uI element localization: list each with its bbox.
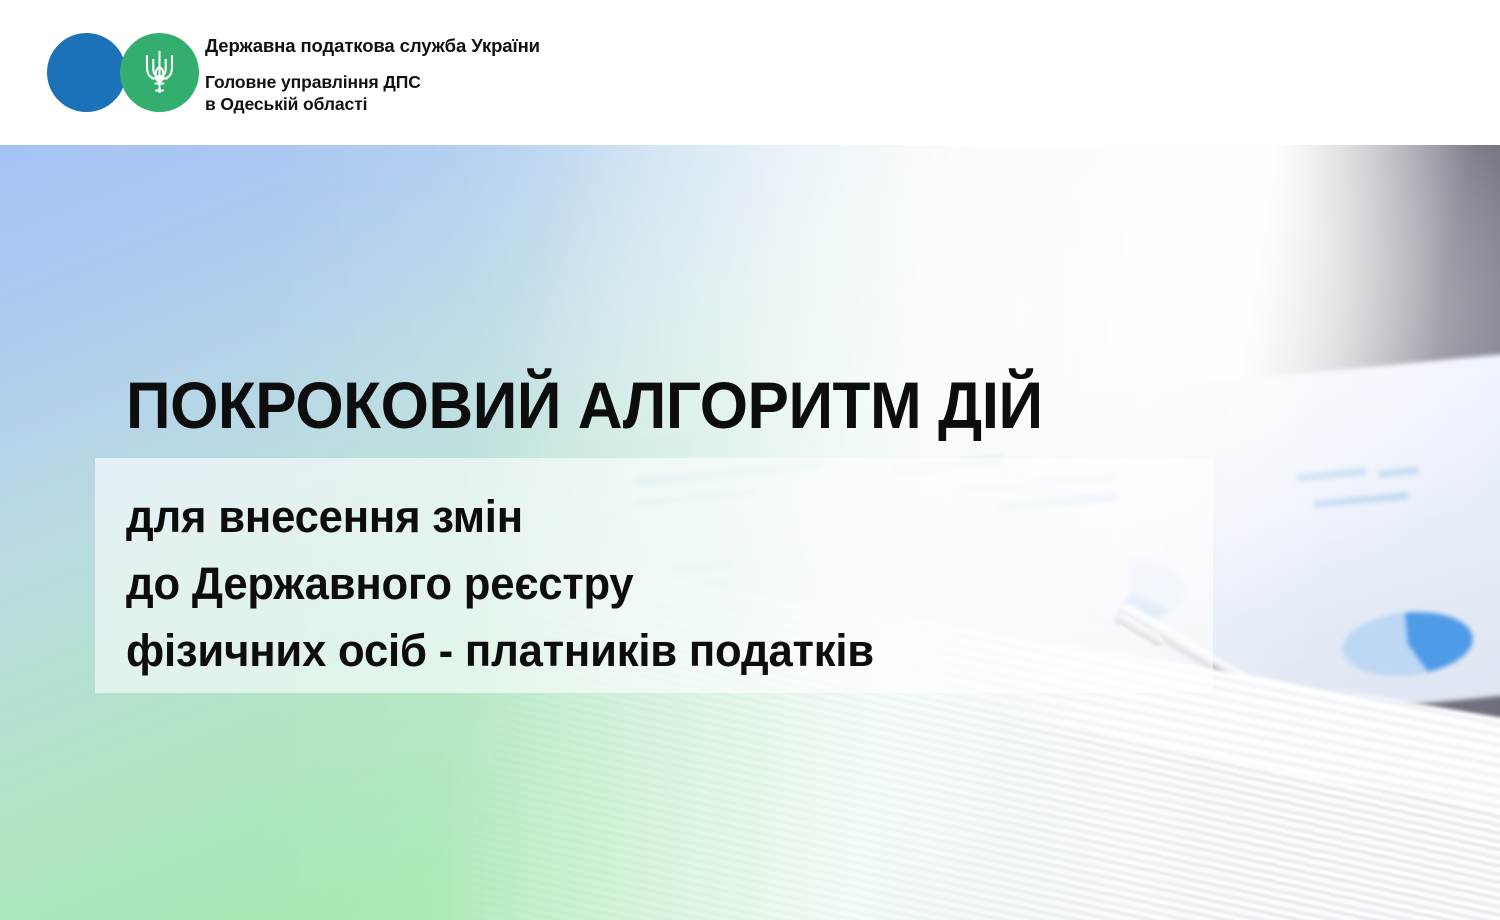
- header-bar: Державна податкова служба України Головн…: [0, 0, 1500, 145]
- subtitle-line-1: для внесення змін: [126, 483, 874, 550]
- trident-icon: [142, 47, 177, 99]
- logo-circle-blue: [47, 33, 126, 112]
- subtitle-line-2: до Державного реєстру: [126, 550, 874, 617]
- poster-title: ПОКРОКОВИЙ АЛГОРИТМ ДІЙ: [126, 368, 1043, 442]
- dps-logo: [47, 33, 199, 112]
- header-text-block: Державна податкова служба України Головн…: [205, 34, 905, 115]
- poster-canvas: Державна податкова служба України Головн…: [0, 0, 1500, 920]
- department-line-2: в Одеській області: [205, 93, 905, 115]
- organization-title: Державна податкова служба України: [205, 34, 905, 58]
- poster-subtitle: для внесення змін до Державного реєстру …: [126, 483, 874, 684]
- department-title: Головне управління ДПС в Одеській област…: [205, 71, 905, 115]
- subtitle-line-3: фізичних осіб - платників податків: [126, 617, 874, 684]
- department-line-1: Головне управління ДПС: [205, 71, 905, 93]
